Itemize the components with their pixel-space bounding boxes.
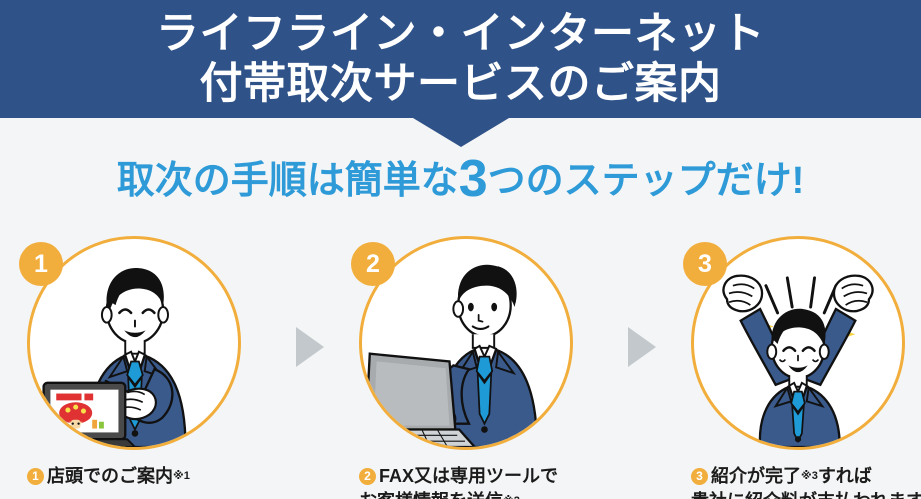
motion-lines xyxy=(766,278,836,313)
step-1-caption: 1店頭でのご案内※1 xyxy=(17,464,283,489)
caption-line: 貴社に紹介料が支払われます xyxy=(691,489,921,499)
caption-line: 2FAX又は専用ツールで xyxy=(359,464,615,489)
step-2-badge: 2 xyxy=(351,242,395,286)
caption-text: お客様情報を送信 xyxy=(359,491,503,499)
caption-number-marker: 3 xyxy=(691,468,708,485)
step-2-caption: 2FAX又は専用ツールで お客様情報を送信※2 xyxy=(349,464,615,499)
step-3-badge: 3 xyxy=(683,242,727,286)
caption-note: ※2 xyxy=(503,495,520,499)
subtitle-text-after: つのステップだけ! xyxy=(488,160,805,202)
caption-number-marker: 2 xyxy=(359,468,376,485)
subtitle-text-before: 取次の手順は簡単な xyxy=(117,160,459,202)
banner-notch-triangle xyxy=(413,118,509,147)
caption-line: お客様情報を送信※2 xyxy=(359,489,615,499)
caption-number-marker: 1 xyxy=(27,468,44,485)
arrow-step2-to-step3 xyxy=(615,236,668,458)
subtitle-step-count: 3 xyxy=(459,150,488,208)
infographic-page: ライフライン・インターネット 付帯取次サービスのご案内 取次の手順は簡単な3つの… xyxy=(0,0,921,499)
arrow-right-icon xyxy=(628,327,656,367)
arrow-right-icon xyxy=(296,327,324,367)
header-banner: ライフライン・インターネット 付帯取次サービスのご案内 xyxy=(0,0,921,118)
arrow-step1-to-step2 xyxy=(283,236,336,458)
step-2: 2 2FAX又は専用ツールで お客様情報を送信※2 xyxy=(349,236,615,499)
caption-line: 1店頭でのご案内※1 xyxy=(27,464,283,489)
steps-row: 1 1店頭でのご案内※1 xyxy=(0,236,921,499)
caption-note: ※3 xyxy=(801,470,818,482)
subtitle: 取次の手順は簡単な3つのステップだけ! xyxy=(0,155,921,205)
step-1: 1 1店頭でのご案内※1 xyxy=(17,236,283,489)
caption-note: ※1 xyxy=(173,470,190,482)
caption-text: FAX又は専用ツールで xyxy=(379,466,558,486)
banner-title-line-1: ライフライン・インターネット xyxy=(156,9,765,59)
step-1-badge: 1 xyxy=(19,242,63,286)
step-3-caption: 3紹介が完了※3すれば 貴社に紹介料が支払われます xyxy=(681,464,921,499)
caption-text: 店頭でのご案内 xyxy=(47,466,173,486)
step-3: 3 3紹介が完了※3すれば 貴社に紹介料が支払われます xyxy=(681,236,921,499)
tablet-device xyxy=(32,383,135,447)
caption-text: 紹介が完了 xyxy=(711,466,801,486)
banner-title-line-2: 付帯取次サービスのご案内 xyxy=(200,59,722,109)
caption-text-after: すれば xyxy=(818,466,872,486)
caption-line: 3紹介が完了※3すれば xyxy=(691,464,921,489)
caption-text: 貴社に紹介料が支払われます xyxy=(691,491,921,499)
